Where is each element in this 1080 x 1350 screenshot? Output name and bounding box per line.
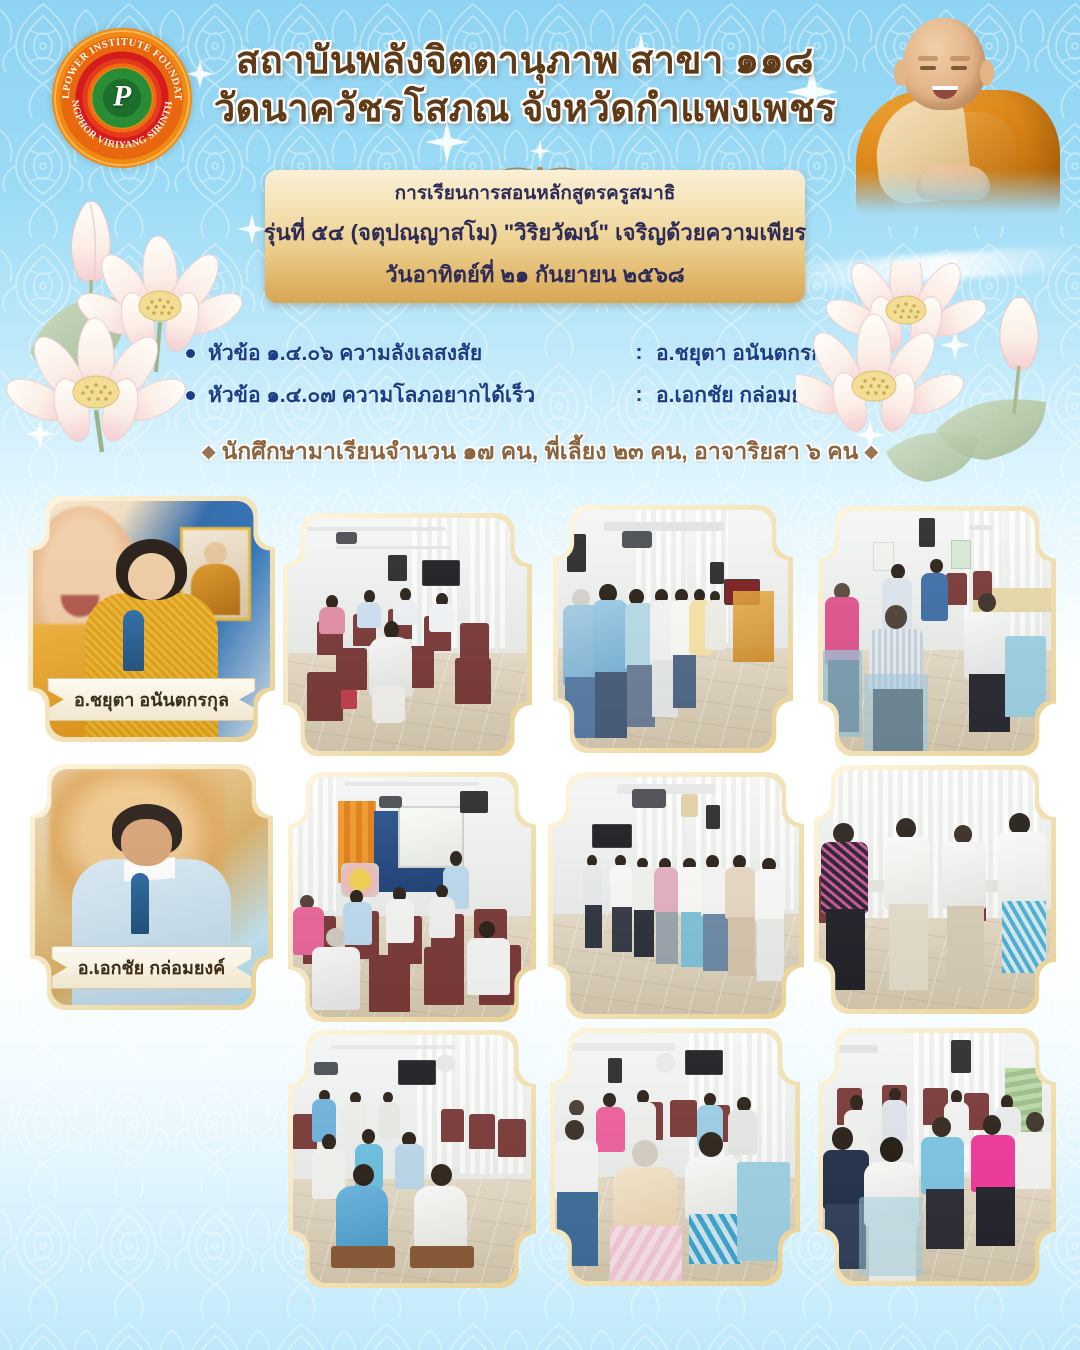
topic-separator: : bbox=[622, 341, 656, 365]
photo-frame-women-white-uniform[interactable] bbox=[814, 765, 1056, 1014]
svg-text:WILLPOWER INSTITUTE FOUNDATI: WILLPOWER INSTITUTE FOUNDATION bbox=[52, 28, 183, 101]
photo-caption-female-teacher: อ.ชยุตา อนันตกรกุล bbox=[47, 678, 256, 721]
photo-image bbox=[558, 510, 788, 748]
topic-separator: : bbox=[622, 383, 656, 407]
photo-image bbox=[555, 1033, 795, 1281]
topic-speaker: อ.เอกชัย กล่อมยงค์ bbox=[656, 379, 906, 412]
photo-image bbox=[823, 511, 1051, 751]
title-line-1: สถาบันพลังจิตตานุภาพ สาขา ๑๑๘ bbox=[205, 38, 845, 86]
title-line-2: วัดนาควัชรโสภณ จังหวัดกำแพงเพชร bbox=[205, 86, 845, 134]
photo-image bbox=[288, 518, 527, 751]
photo-image: อ.ชยุตา อนันตกรกุล bbox=[33, 501, 270, 737]
attendance-summary: ◆ นักศึกษามาเรียนจำนวน ๑๗ คน, พี่เลี้ยง … bbox=[0, 434, 1080, 470]
lotus-left-decoration bbox=[2, 182, 302, 472]
photo-frame-seated-meditating[interactable] bbox=[550, 1028, 800, 1286]
photo-frame-portrait-male-teacher[interactable]: อ.เอกชัย กล่อมยงค์ bbox=[30, 764, 273, 1010]
organization-logo: P WILLPOWER INSTITUTE FOUNDATION LUANGPH… bbox=[52, 28, 192, 168]
topic-list: หัวข้อ ๑.๔.๐๖ ความลังเลสงสัย : อ.ชยุตา อ… bbox=[186, 332, 906, 416]
banner-course-line: การเรียนการสอนหลักสูตรครูสมาธิ bbox=[395, 178, 676, 208]
bullet-dot-icon bbox=[186, 349, 195, 358]
light-streak-decoration bbox=[769, 244, 1080, 292]
monk-portrait-cutout bbox=[850, 16, 1066, 226]
banner-batch-line: รุ่นที่ ๕๔ (จตุปณฺญาสโม) "วิริยวัฒน์" เจ… bbox=[264, 215, 807, 250]
photo-caption-male-teacher: อ.เอกชัย กล่อมยงค์ bbox=[51, 946, 252, 989]
banner-date-line: วันอาทิตย์ที่ ๒๑ กันยายน ๒๕๖๘ bbox=[385, 257, 685, 292]
photo-frame-meditating-floor[interactable] bbox=[288, 1030, 536, 1288]
diamond-right-icon: ◆ bbox=[865, 442, 878, 461]
photo-frame-classroom-projector[interactable] bbox=[288, 772, 536, 1022]
photo-frame-seated-meditating-row[interactable] bbox=[818, 1028, 1056, 1286]
photo-frame-standing-praying[interactable] bbox=[553, 505, 793, 753]
photo-image bbox=[819, 770, 1051, 1009]
photo-image bbox=[293, 1035, 531, 1283]
photo-image: อ.เอกชัย กล่อมยงค์ bbox=[35, 769, 268, 1005]
event-info-banner: การเรียนการสอนหลักสูตรครูสมาธิ รุ่นที่ ๕… bbox=[265, 170, 805, 303]
poster-root: P WILLPOWER INSTITUTE FOUNDATION LUANGPH… bbox=[0, 0, 1080, 1350]
diamond-left-icon: ◆ bbox=[202, 442, 215, 461]
photo-frame-seated-participants[interactable] bbox=[818, 506, 1056, 756]
topic-label: หัวข้อ ๑.๔.๐๗ ความโลภอยากได้เร็ว bbox=[208, 379, 535, 412]
photo-image bbox=[293, 777, 531, 1017]
logo-circular-text: WILLPOWER INSTITUTE FOUNDATION LUANGPHOR… bbox=[52, 28, 192, 168]
topic-speaker: อ.ชยุตา อนันตกรกุล bbox=[656, 337, 906, 370]
photo-frame-portrait-female-teacher[interactable]: อ.ชยุตา อนันตกรกุล bbox=[28, 496, 275, 742]
bullet-dot-icon bbox=[186, 391, 195, 400]
topic-row: หัวข้อ ๑.๔.๐๖ ความลังเลสงสัย : อ.ชยุตา อ… bbox=[186, 332, 906, 374]
topic-label: หัวข้อ ๑.๔.๐๖ ความลังเลสงสัย bbox=[208, 337, 482, 370]
attendance-summary-text: นักศึกษามาเรียนจำนวน ๑๗ คน, พี่เลี้ยง ๒๓… bbox=[222, 438, 859, 464]
photo-image bbox=[823, 1033, 1051, 1281]
poster-title-block: สถาบันพลังจิตตานุภาพ สาขา ๑๑๘ วัดนาควัชร… bbox=[205, 38, 845, 134]
topic-row: หัวข้อ ๑.๔.๐๗ ความโลภอยากได้เร็ว : อ.เอก… bbox=[186, 374, 906, 416]
photo-image bbox=[553, 777, 799, 1014]
photo-frame-classroom-desks[interactable] bbox=[283, 513, 532, 756]
photo-frame-standing-line[interactable] bbox=[548, 772, 804, 1019]
